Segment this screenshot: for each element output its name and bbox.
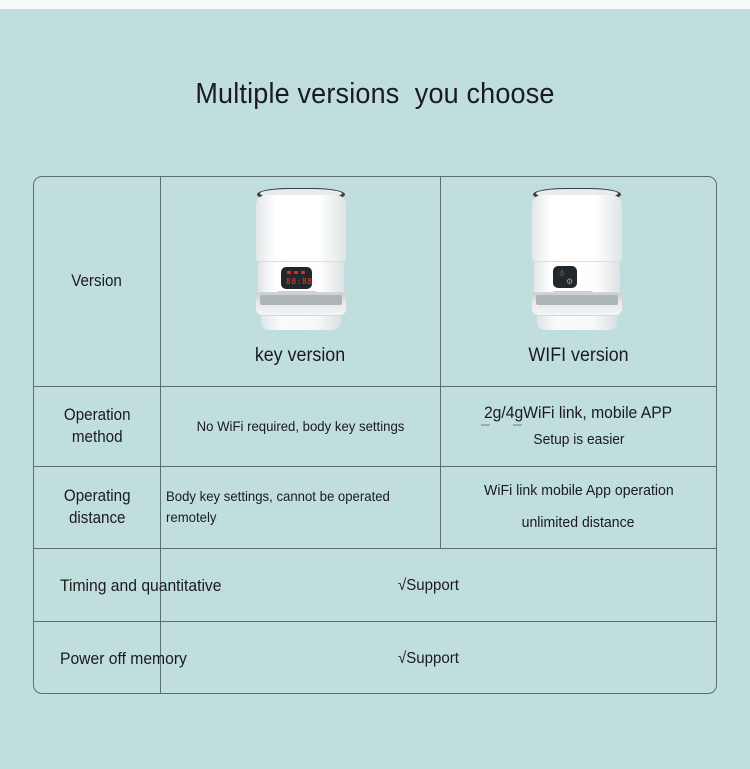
cell-power-off-memory-value: √Support xyxy=(398,650,459,668)
comparison-table: Version 88:88 key version xyxy=(33,176,717,694)
cell-operating-distance-wifi-line2: unlimited distance xyxy=(522,512,635,535)
cell-timing-quantitative-value: √Support xyxy=(398,577,459,595)
cell-operation-method-key: No WiFi required, body key settings xyxy=(160,386,440,466)
led-digits: 88:88 xyxy=(286,278,313,286)
feeder-hopper xyxy=(256,195,346,263)
gear-icon: ⚙ xyxy=(566,278,573,286)
row-label-operation-method: Operation method xyxy=(34,386,160,466)
top-white-strip xyxy=(0,0,750,9)
product-comparison-page: Multiple versions you choose Version xyxy=(0,0,750,769)
feeder-icon-panel: ☃ ⚙ xyxy=(553,266,577,288)
table-row-divider-3 xyxy=(34,548,716,549)
led-indicator-1 xyxy=(287,271,291,274)
cell-operating-distance-wifi: WiFi link mobile App operation unlimited… xyxy=(440,466,717,548)
cell-operating-distance-wifi-line1: WiFi link mobile App operation xyxy=(484,480,674,503)
led-indicator-3 xyxy=(301,271,305,274)
column-name-wifi-version: WIFI version xyxy=(448,345,708,367)
paw-icon: ☃ xyxy=(558,270,565,278)
row-label-operating-distance-text: Operating distance xyxy=(64,485,131,530)
page-title: Multiple versions you choose xyxy=(26,78,724,111)
cell-operation-method-wifi: 2g/4gWiFi link, mobile APP Setup is easi… xyxy=(440,386,717,466)
feeder-hopper xyxy=(532,195,622,263)
row-label-timing-quantitative: Timing and quantitative xyxy=(60,577,222,596)
table-row-divider-4 xyxy=(34,621,716,622)
cell-operation-method-wifi-line2: Setup is easier xyxy=(533,432,624,448)
pet-feeder-wifi-version-icon: ☃ ⚙ xyxy=(517,188,637,338)
feeder-bowl-inner xyxy=(260,295,342,305)
cell-operation-method-key-text: No WiFi required, body key settings xyxy=(196,416,404,437)
cell-operating-distance-key-line1: Body key settings, cannot be operated xyxy=(166,486,390,507)
artifact-dash-2 xyxy=(513,424,522,426)
pet-feeder-key-version-icon: 88:88 xyxy=(241,188,361,338)
row-label-version: Version xyxy=(34,177,160,386)
cell-operating-distance-key-line2: remotely xyxy=(166,507,216,528)
led-indicator-2 xyxy=(294,271,298,274)
artifact-dash-1 xyxy=(481,424,490,426)
feeder-led-panel: 88:88 xyxy=(281,267,312,289)
row-label-operation-method-text: Operation method xyxy=(64,404,131,449)
cell-operation-method-wifi-line1: 2g/4gWiFi link, mobile APP xyxy=(484,404,672,423)
row-label-operating-distance: Operating distance xyxy=(34,466,160,548)
column-name-key-version: key version xyxy=(168,345,431,367)
row-label-power-off-memory: Power off memory xyxy=(60,650,187,669)
row-label-version-text: Version xyxy=(72,270,123,292)
cell-operating-distance-key: Body key settings, cannot be operated re… xyxy=(160,466,440,548)
feeder-bowl-inner xyxy=(536,295,618,305)
